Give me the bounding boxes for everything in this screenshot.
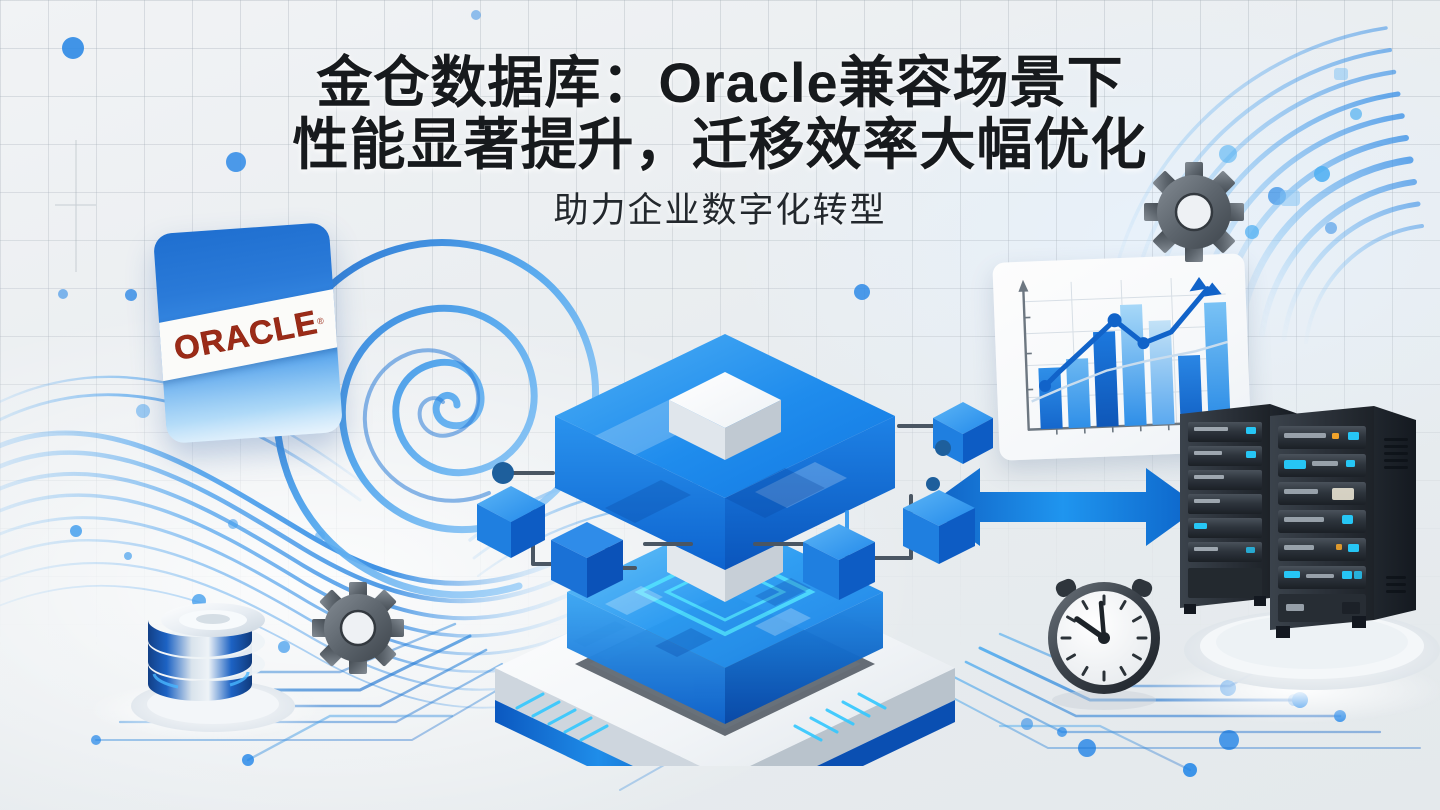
server-rack-icon xyxy=(1162,398,1440,714)
db-discs xyxy=(148,603,265,701)
server-rack-front xyxy=(1270,406,1416,638)
oracle-trademark-icon: ® xyxy=(316,316,324,327)
oracle-wordmark: ORACLE xyxy=(171,303,321,368)
oracle-wordmark-band: ORACLE® xyxy=(153,285,343,384)
gear-icon xyxy=(1142,160,1246,264)
clock-icon xyxy=(1036,566,1172,712)
cube-stack-icon xyxy=(455,296,995,766)
hero-banner: ORACLE® xyxy=(0,0,1440,810)
y-axis-arrow-icon xyxy=(1018,280,1028,292)
database-icon xyxy=(118,588,308,738)
satellite-cube xyxy=(903,490,975,564)
gear-icon xyxy=(310,580,406,676)
oracle-logo-card: ORACLE® xyxy=(153,222,343,444)
